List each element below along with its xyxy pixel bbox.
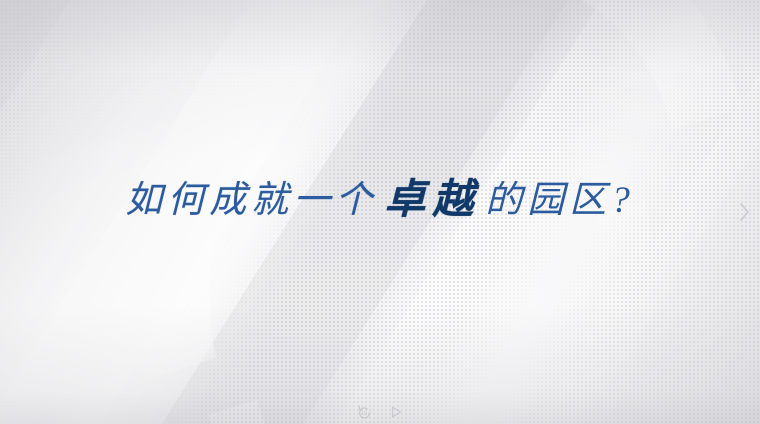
next-slide-button[interactable] bbox=[732, 196, 756, 228]
headline-tail-text: 的园区? bbox=[485, 182, 635, 219]
rewind-seconds-label: 10 bbox=[361, 412, 367, 417]
play-button[interactable] bbox=[388, 404, 404, 420]
headline: 如何成就一个卓越的园区? bbox=[0, 178, 760, 219]
play-icon bbox=[389, 405, 403, 419]
rewind-10-button[interactable]: 10 bbox=[356, 404, 372, 420]
headline-lead-text: 如何成就一个 bbox=[125, 182, 377, 219]
chevron-right-icon bbox=[739, 202, 750, 222]
slide-canvas: 如何成就一个卓越的园区? 10 bbox=[0, 0, 760, 424]
video-player-controls: 10 bbox=[0, 403, 760, 421]
headline-accent-text: 卓越 bbox=[384, 179, 480, 220]
